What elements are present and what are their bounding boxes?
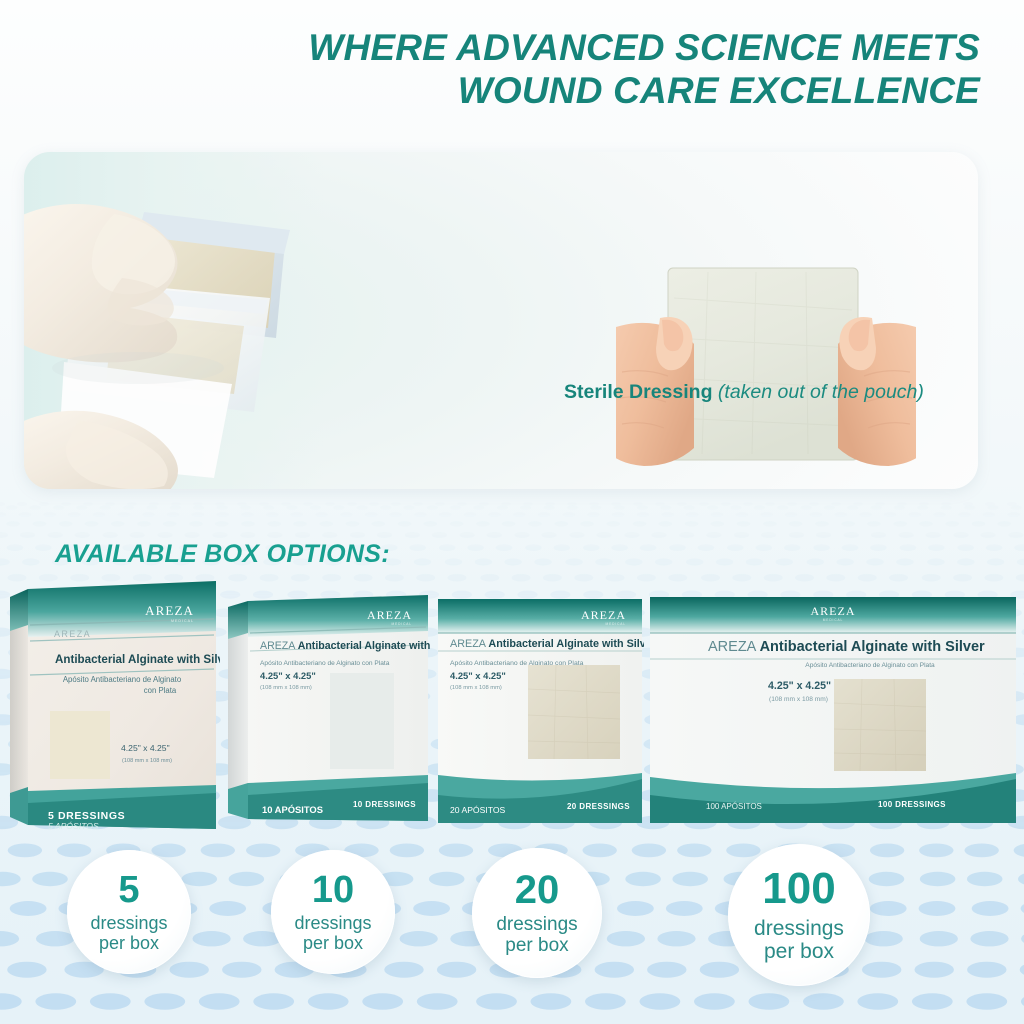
badge-label-line-1: dressings bbox=[90, 914, 167, 934]
page-headline: WHERE ADVANCED SCIENCE MEETS WOUND CARE … bbox=[40, 26, 980, 113]
badge-label-line-1: dressings bbox=[294, 914, 371, 934]
badge-label: dressings per box bbox=[90, 914, 167, 954]
svg-text:AREZA: AREZA bbox=[581, 608, 626, 622]
svg-text:100 APÓSITOS: 100 APÓSITOS bbox=[706, 802, 762, 811]
badge-label: dressings per box bbox=[496, 915, 577, 957]
badge-10-dressings-per-box[interactable]: 10 dressings per box bbox=[271, 850, 395, 974]
sterile-dressing-label-note: (taken out of the pouch) bbox=[718, 381, 924, 403]
svg-text:Apósito Antibacteriano de Algi: Apósito Antibacteriano de Alginato con P… bbox=[805, 662, 935, 669]
svg-text:MEDICAL: MEDICAL bbox=[171, 619, 194, 623]
svg-text:(108 mm x 108 mm): (108 mm x 108 mm) bbox=[260, 685, 312, 691]
svg-text:100 DRESSINGS: 100 DRESSINGS bbox=[878, 800, 946, 809]
badge-label: dressings per box bbox=[294, 914, 371, 954]
count-badges-row: 5 dressings per box 10 dressings per box… bbox=[0, 840, 1024, 980]
box-options-row: AREZA MEDICAL AREZA Antibacterial Algina… bbox=[0, 575, 1024, 835]
badge-label-line-1: dressings bbox=[754, 917, 844, 940]
svg-text:AREZA: AREZA bbox=[811, 604, 856, 618]
badge-20-dressings-per-box[interactable]: 20 dressings per box bbox=[472, 848, 602, 978]
svg-text:AREZA: AREZA bbox=[54, 629, 91, 639]
badge-label-line-2: per box bbox=[90, 934, 167, 954]
photo-hands-holding-dressing bbox=[616, 252, 916, 489]
badge-label-line-2: per box bbox=[294, 934, 371, 954]
product-box-20[interactable]: AREZA MEDICAL AREZA Antibacterial Algina… bbox=[436, 597, 644, 825]
svg-text:5 APÓSITOS: 5 APÓSITOS bbox=[48, 821, 99, 831]
svg-text:AREZA Antibacterial: AREZA Antibacterial Alginate with Silver bbox=[708, 639, 985, 655]
photo-gloved-hands-pouch bbox=[24, 162, 348, 489]
badge-label-line-2: per box bbox=[754, 940, 844, 963]
svg-text:MEDICAL: MEDICAL bbox=[823, 618, 843, 622]
badge-label: dressings per box bbox=[754, 917, 844, 963]
svg-text:4.25" x 4.25": 4.25" x 4.25" bbox=[450, 670, 506, 681]
badge-label-line-1: dressings bbox=[496, 915, 577, 936]
svg-text:10 DRESSINGS: 10 DRESSINGS bbox=[353, 800, 416, 809]
svg-text:Apósito Antibacteriano de Algi: Apósito Antibacteriano de Alginato con P… bbox=[260, 660, 390, 667]
svg-text:AREZA Antibacterial: AREZA Antibacterial Alginate with Silver bbox=[260, 640, 430, 652]
badge-100-dressings-per-box[interactable]: 100 dressings per box bbox=[728, 844, 870, 986]
sterile-dressing-label: Sterile Dressing (taken out of the pouch… bbox=[564, 381, 924, 404]
svg-text:AREZA: AREZA bbox=[145, 603, 194, 618]
svg-text:(108 mm x 108 mm): (108 mm x 108 mm) bbox=[122, 758, 172, 764]
sterile-dressing-label-bold: Sterile Dressing bbox=[564, 381, 712, 403]
svg-text:4.25" x 4.25": 4.25" x 4.25" bbox=[260, 670, 316, 681]
product-box-5[interactable]: AREZA MEDICAL AREZA Antibacterial Algina… bbox=[8, 579, 220, 833]
headline-line-1: WHERE ADVANCED SCIENCE MEETS bbox=[40, 26, 980, 69]
badge-5-dressings-per-box[interactable]: 5 dressings per box bbox=[67, 850, 191, 974]
svg-text:20 DRESSINGS: 20 DRESSINGS bbox=[567, 802, 630, 811]
product-box-100[interactable]: AREZA MEDICAL AREZA Antibacterial Algina… bbox=[648, 595, 1018, 825]
svg-text:Apósito Antibacteriano de Algi: Apósito Antibacteriano de Alginato bbox=[63, 675, 182, 684]
svg-text:20 APÓSITOS: 20 APÓSITOS bbox=[450, 805, 506, 815]
svg-text:AREZA Antibacterial: AREZA Antibacterial Alginate with Silver bbox=[450, 638, 644, 650]
product-box-10[interactable]: Antibacterial Alginate with Silver Algin… bbox=[226, 593, 430, 825]
svg-text:4.25" x 4.25": 4.25" x 4.25" bbox=[121, 743, 170, 753]
badge-number: 20 bbox=[515, 870, 560, 910]
svg-text:MEDICAL: MEDICAL bbox=[606, 622, 626, 626]
svg-text:4.25" x 4.25": 4.25" x 4.25" bbox=[768, 680, 831, 692]
badge-number: 5 bbox=[118, 871, 139, 909]
badge-number: 100 bbox=[762, 867, 835, 911]
svg-text:(108 mm x 108 mm): (108 mm x 108 mm) bbox=[769, 696, 828, 703]
badge-number: 10 bbox=[312, 871, 354, 909]
infographic-canvas: WHERE ADVANCED SCIENCE MEETS WOUND CARE … bbox=[0, 0, 1024, 1024]
available-box-options-title: AVAILABLE BOX OPTIONS: bbox=[55, 540, 390, 569]
svg-text:AREZA: AREZA bbox=[367, 608, 412, 622]
svg-text:MEDICAL: MEDICAL bbox=[392, 622, 412, 626]
svg-text:(108 mm x 108 mm): (108 mm x 108 mm) bbox=[450, 685, 502, 691]
svg-text:con Plata: con Plata bbox=[144, 686, 177, 695]
badge-label-line-2: per box bbox=[496, 936, 577, 957]
photo-panel: Sterile Dressing (taken out of the pouch… bbox=[24, 152, 978, 489]
headline-line-2: WOUND CARE EXCELLENCE bbox=[40, 69, 980, 112]
svg-text:Antibacterial Alginate with Si: Antibacterial Alginate with Silver bbox=[55, 653, 220, 666]
svg-text:10 APÓSITOS: 10 APÓSITOS bbox=[262, 804, 323, 815]
